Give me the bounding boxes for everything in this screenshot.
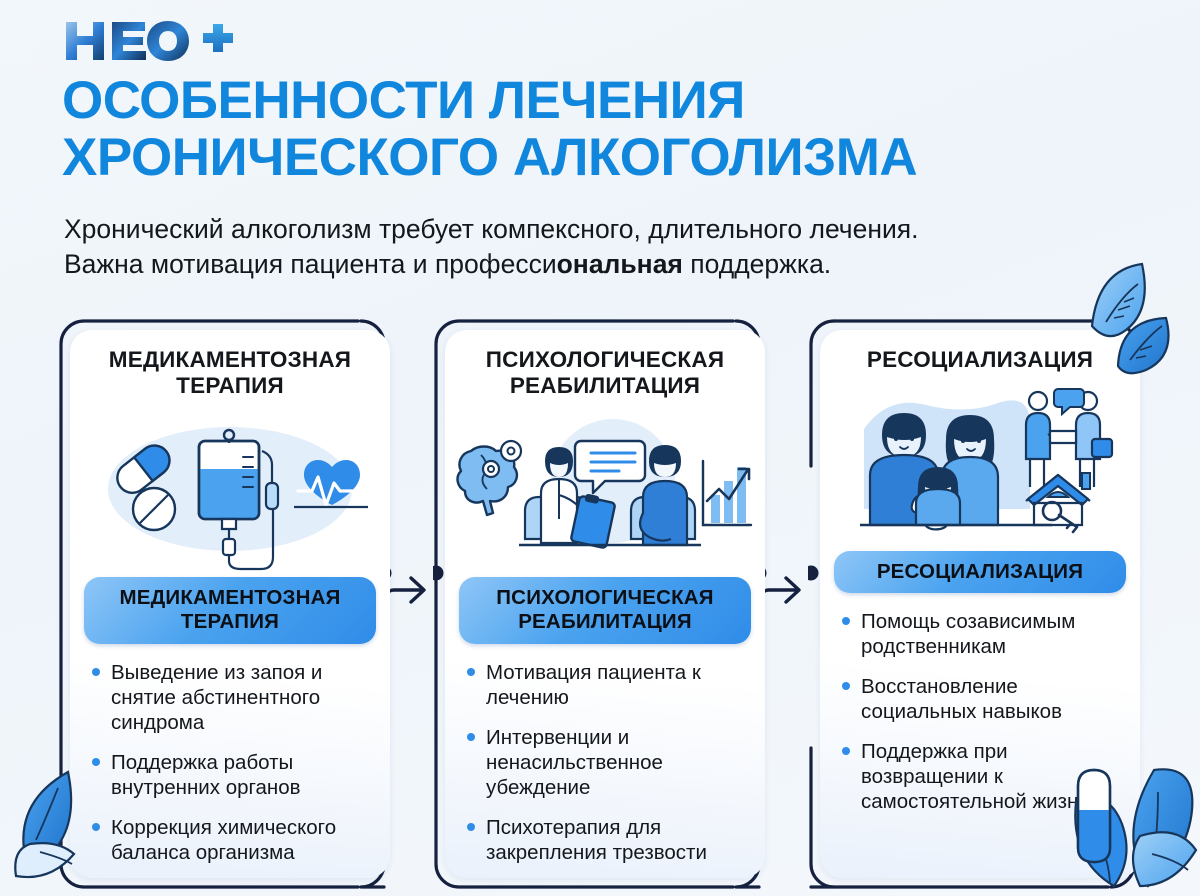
list-item: Интервенции и ненасильственное убеждение — [467, 725, 749, 800]
page-title: ОСОБЕННОСТИ ЛЕЧЕНИЯ ХРОНИЧЕСКОГО АЛКОГОЛ… — [62, 72, 1152, 186]
leaves-icon-top-right — [1062, 262, 1200, 394]
subtitle-part-c: поддержка. — [683, 249, 831, 279]
subtitle-part-a: Важна мотивация пациента и професси — [64, 249, 557, 279]
card-2-badge: ПСИХОЛОГИЧЕСКАЯ РЕАБИЛИТАЦИЯ — [459, 577, 751, 643]
list-item: Психотерапия для закрепления трезвости — [467, 815, 749, 865]
list-item: Выведение из запоя и снятие абстинентног… — [92, 660, 374, 735]
card-3-illustration — [820, 377, 1140, 545]
brand-logo — [64, 18, 234, 64]
family-handshake-house-key-icon — [830, 377, 1130, 545]
list-item: Коррекция химического баланса организма — [92, 815, 374, 865]
iv-drip-pills-heart-icon — [80, 403, 380, 571]
subtitle-part-bold: ональная — [557, 249, 683, 279]
card-2-illustration — [445, 403, 765, 571]
therapy-session-brain-chart-icon — [453, 403, 757, 571]
list-item: Помощь созависимым родственникам — [842, 609, 1124, 659]
page-title-line-1: ОСОБЕННОСТИ ЛЕЧЕНИЯ — [62, 72, 1152, 129]
card-1-illustration — [70, 403, 390, 571]
card-1-heading: МЕДИКАМЕНТОЗНАЯ ТЕРАПИЯ — [70, 330, 390, 399]
card-2-bullet-list: Мотивация пациента к лечению Интервенции… — [445, 660, 765, 865]
card-psychological-rehabilitation[interactable]: ПСИХОЛОГИЧЕСКАЯ РЕАБИЛИТАЦИЯ — [445, 330, 765, 878]
card-3-badge: РЕСОЦИАЛИЗАЦИЯ — [834, 551, 1126, 593]
list-item: Поддержка работы внутренних органов — [92, 750, 374, 800]
subtitle-line-2: Важна мотивация пациента и профессиональ… — [64, 247, 1134, 282]
card-2-heading: ПСИХОЛОГИЧЕСКАЯ РЕАБИЛИТАЦИЯ — [445, 330, 765, 399]
subtitle-line-1: Хронический алкоголизм требует компексно… — [64, 212, 1134, 247]
card-1-badge: МЕДИКАМЕНТОЗНАЯ ТЕРАПИЯ — [84, 577, 376, 643]
page-subtitle: Хронический алкоголизм требует компексно… — [64, 212, 1134, 282]
page-title-line-2: ХРОНИЧЕСКОГО АЛКОГОЛИЗМА — [62, 129, 1152, 186]
leaves-icon-bottom-left — [0, 760, 110, 896]
card-medication-therapy[interactable]: МЕДИКАМЕНТОЗНАЯ ТЕРАПИЯ — [70, 330, 390, 878]
list-item: Мотивация пациента к лечению — [467, 660, 749, 710]
list-item: Восстановление социальных навыков — [842, 674, 1124, 724]
leaves-vial-icon-bottom-right — [1062, 748, 1200, 896]
infographic-canvas: ОСОБЕННОСТИ ЛЕЧЕНИЯ ХРОНИЧЕСКОГО АЛКОГОЛ… — [0, 0, 1200, 896]
card-1-bullet-list: Выведение из запоя и снятие абстинентног… — [70, 660, 390, 865]
